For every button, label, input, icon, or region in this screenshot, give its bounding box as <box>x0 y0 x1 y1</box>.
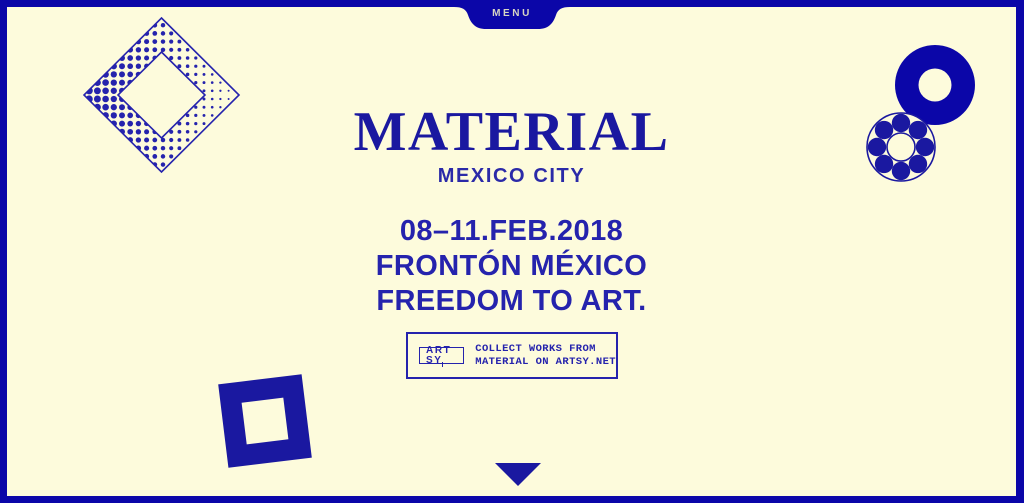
hero-title-block: MATERIAL MEXICO CITY <box>7 104 1016 188</box>
event-tagline: FREEDOM TO ART. <box>7 284 1016 319</box>
page-canvas: MATERIAL MEXICO CITY 08–11.FEB.2018 FRON… <box>7 7 1016 496</box>
menu-label: MENU <box>0 8 1024 19</box>
event-info-block: 08–11.FEB.2018 FRONTÓN MÉXICO FREEDOM TO… <box>7 214 1016 319</box>
page-title: MATERIAL <box>7 104 1016 160</box>
event-dates: 08–11.FEB.2018 <box>7 214 1016 249</box>
artsy-logo: ART SY <box>419 347 464 364</box>
artsy-cta-line-1: COLLECT WORKS FROM <box>475 343 616 356</box>
scroll-down-arrow[interactable] <box>494 462 542 493</box>
rotated-square-outline-graphic <box>205 365 325 482</box>
artsy-collect-works-button[interactable]: ART SY COLLECT WORKS FROM MATERIAL ON AR… <box>406 332 618 379</box>
menu-tab[interactable]: MENU <box>0 0 1024 34</box>
page-subtitle: MEXICO CITY <box>7 165 1016 188</box>
artsy-cta-line-2: MATERIAL ON ARTSY.NET <box>475 356 616 369</box>
artsy-cta-label: COLLECT WORKS FROM MATERIAL ON ARTSY.NET <box>475 343 616 369</box>
event-venue: FRONTÓN MÉXICO <box>7 249 1016 284</box>
artsy-logo-tick-icon <box>442 362 444 367</box>
material-mexico-city-landing-page: MATERIAL MEXICO CITY 08–11.FEB.2018 FRON… <box>0 0 1024 503</box>
